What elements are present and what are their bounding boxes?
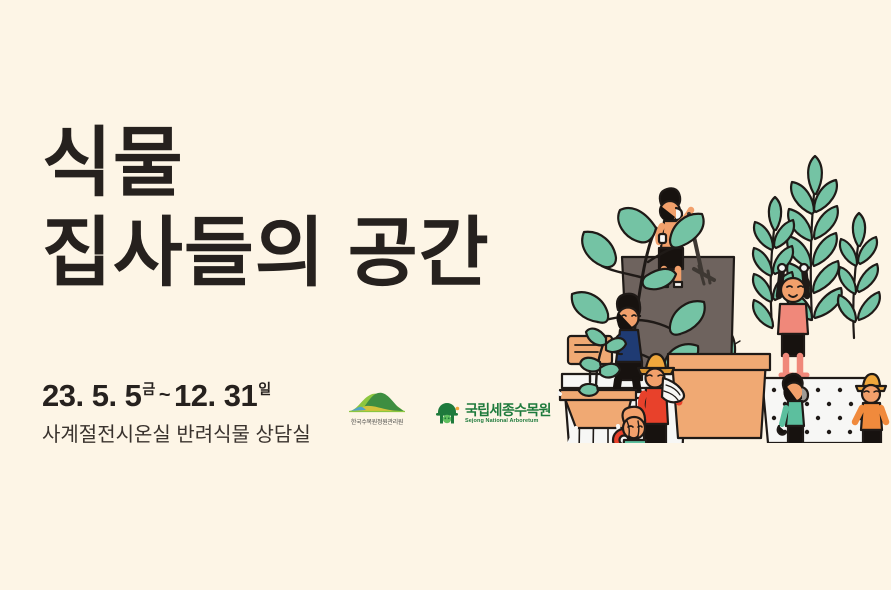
sejong-national-arboretum-logo: 국립세종수목원 Sejong National Arboretum [434,402,551,426]
end-day-of-week: 일 [258,379,270,399]
venue-label: 사계절전시온실 반려식물 상담실 [42,418,311,447]
zz-plant-right-third [838,213,880,338]
headline-block: 식물 집사들의 공간 [42,126,582,292]
end-date: 12. 31 [174,378,257,414]
giant-potted-plants-with-tiny-gardeners-illustration [558,138,891,443]
mountain-wave-icon [346,387,408,415]
poster-canvas: 식물 집사들의 공간 23. 5. 5 금 ~ 12. 31 일 사계절전시온실… [0,0,891,590]
korea-arboretum-garden-institute-caption: 한국수목원정원관리원 [351,417,403,426]
start-day-of-week: 금 [142,379,154,399]
arboretum-tree-icon [434,402,460,426]
page-title-line-1: 식물 [42,126,582,202]
korea-arboretum-garden-institute-logo: 한국수목원정원관리원 [346,387,408,426]
start-date: 23. 5. 5 [42,378,141,414]
sejong-logo-english-text: Sejong National Arboretum [465,419,551,425]
sejong-logo-korean-text: 국립세종수목원 [465,403,551,417]
date-separator: ~ [159,384,170,407]
event-date-range: 23. 5. 5 금 ~ 12. 31 일 [42,378,271,414]
page-title-line-2: 집사들의 공간 [42,216,582,292]
sponsor-logo-row: 한국수목원정원관리원 국립세종수목원 Sejong National Arbor… [346,387,551,426]
figure-arms-raised-pink [778,264,808,375]
